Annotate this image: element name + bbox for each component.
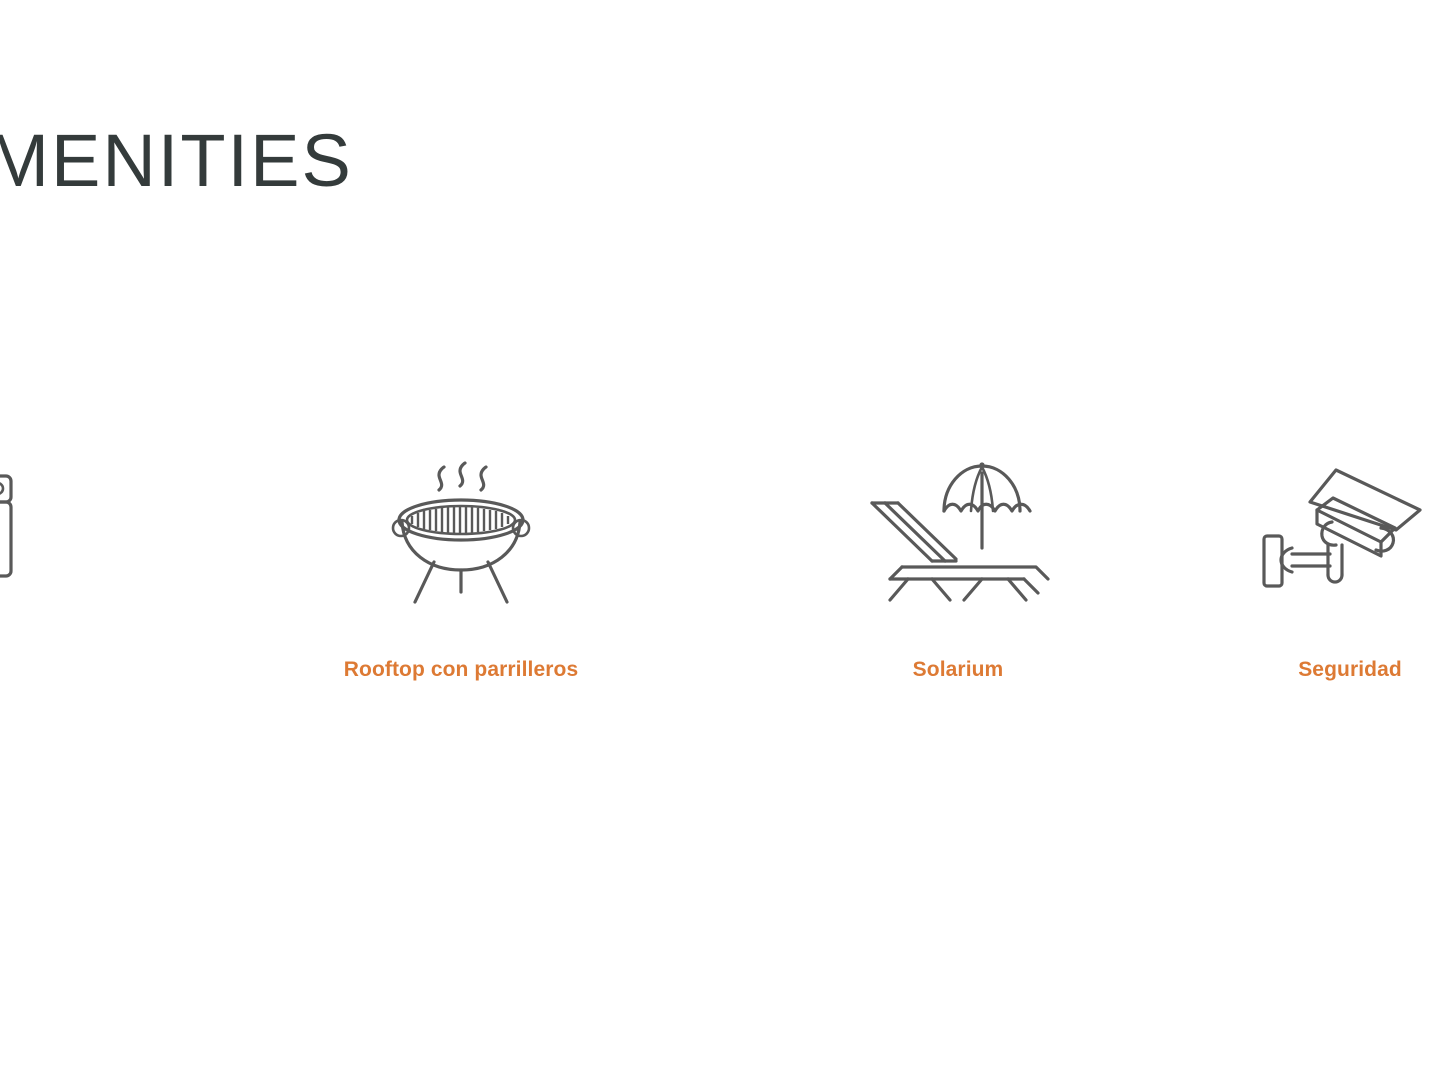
security-camera-icon — [1200, 430, 1440, 620]
page-title: AMENITIES — [0, 124, 353, 198]
amenities-row: Laundry — [0, 430, 1440, 700]
washing-machine-icon — [0, 430, 108, 620]
bbq-grill-icon — [311, 430, 611, 620]
amenity-label: Laundry — [0, 658, 108, 682]
amenity-item-solarium[interactable]: Solarium — [808, 430, 1108, 700]
amenity-item-seguridad[interactable]: Seguridad — [1200, 430, 1440, 700]
amenity-item-rooftop[interactable]: Rooftop con parrilleros — [311, 430, 611, 700]
amenity-label: Rooftop con parrilleros — [251, 658, 671, 682]
amenity-item-laundry[interactable]: Laundry — [0, 430, 108, 700]
amenity-label: Seguridad — [1150, 658, 1440, 682]
amenity-label: Solarium — [808, 658, 1108, 682]
lounge-chair-umbrella-icon — [808, 430, 1108, 620]
amenities-slide: AMENITIES Laundry — [0, 0, 1440, 1078]
